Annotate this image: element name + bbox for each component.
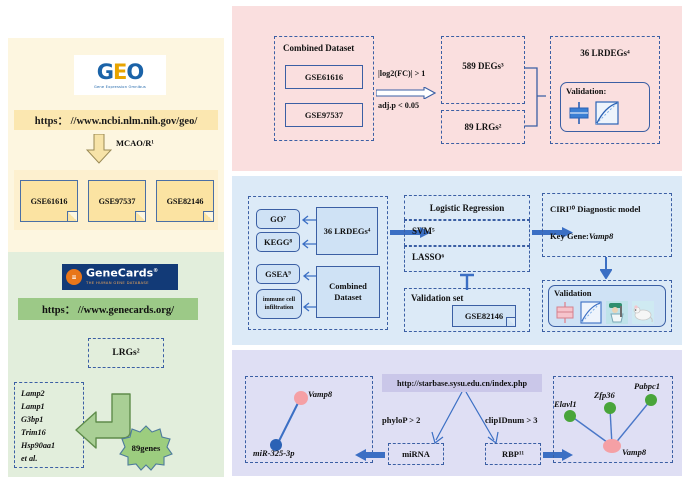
degs-box: 589 DEGs³ bbox=[441, 36, 525, 104]
logistic-regression-box: Logistic Regression bbox=[404, 195, 530, 220]
gsea-arrow-icon bbox=[302, 268, 317, 286]
pink-validation-label: Validation: bbox=[566, 86, 606, 96]
immune-arrow-icon bbox=[302, 299, 317, 317]
mcao-arrow-icon bbox=[86, 134, 112, 164]
immune-infiltration-box[interactable]: immune cell infiltration bbox=[256, 289, 302, 319]
kegg-arrow-icon bbox=[300, 236, 317, 254]
lrdegs-analysis-box: 36 LRDEGs⁴ bbox=[316, 207, 378, 255]
dataset-note-gse97537[interactable]: GSE97537 bbox=[88, 180, 146, 222]
lrdegs-label: 36 LRDEGs⁴ bbox=[550, 48, 660, 58]
key-gene-line: Key Gene:Vamp8 bbox=[550, 231, 613, 241]
page-fold-icon bbox=[203, 211, 213, 221]
mouse-icon bbox=[632, 301, 654, 329]
dataset-note-gse61616[interactable]: GSE61616 bbox=[20, 180, 78, 222]
clipidnum-filter-label: clipIDnum > 3 bbox=[485, 415, 538, 425]
adjp-filter-label: adj.p < 0.05 bbox=[378, 101, 419, 110]
dataset-label: GSE97537 bbox=[99, 197, 136, 206]
gene-count-badge: 89genes bbox=[118, 425, 174, 471]
dataset-note-gse82146[interactable]: GSE82146 bbox=[156, 180, 214, 222]
phylop-filter-label: phyloP > 2 bbox=[382, 415, 420, 425]
pink-dataset-gse61616[interactable]: GSE61616 bbox=[285, 65, 363, 89]
ciri-model-title: CIRI¹⁰ Diagnostic model bbox=[550, 204, 641, 215]
lasso-label: LASSO⁶ bbox=[412, 252, 444, 262]
mcao-label: MCAO/R¹ bbox=[116, 138, 154, 148]
rbp-box: RBP¹¹ bbox=[485, 443, 541, 465]
gsea-box[interactable]: GSEA⁹ bbox=[256, 264, 300, 284]
genecards-logo-tagline: THE HUMAN GENE DATABASE bbox=[86, 278, 158, 287]
geo-logo: GEO Gene Expression Omnibus bbox=[74, 55, 166, 95]
dataset-label: GSE82146 bbox=[465, 311, 503, 321]
rbp-hub-vamp8-label: Vamp8 bbox=[622, 447, 646, 457]
dataset-label: GSE61616 bbox=[31, 197, 68, 206]
gene-count-label: 89genes bbox=[118, 425, 174, 471]
lrgs-box: LRGs² bbox=[88, 338, 164, 368]
go-arrow-icon bbox=[300, 212, 317, 230]
combined-dataset-analysis-box: Combined Dataset bbox=[316, 266, 380, 318]
genecards-mark-icon: ≡ bbox=[66, 269, 82, 285]
blue-validation-label: Validation bbox=[554, 288, 591, 298]
mirna-box: miRNA bbox=[388, 443, 444, 465]
mirna-network-mirna-label: miR-325-3p bbox=[253, 448, 295, 458]
validation-dataset-note[interactable]: GSE82146 bbox=[452, 305, 516, 327]
genecards-logo-text: GeneCards® bbox=[86, 267, 158, 278]
genecards-logo: ≡ GeneCards® THE HUMAN GENE DATABASE bbox=[62, 264, 178, 290]
boxplot-icon bbox=[555, 301, 575, 329]
page-fold-icon bbox=[135, 211, 145, 221]
rbp-node-elavl1-label: Elavl1 bbox=[554, 399, 577, 409]
page-fold-icon bbox=[506, 317, 515, 326]
lrgs-count-box: 89 LRGs² bbox=[441, 110, 525, 144]
rbp-node-pabpc1-label: Pabpc1 bbox=[634, 381, 660, 391]
dataset-label: GSE82146 bbox=[167, 197, 204, 206]
geo-logo-subtitle: Gene Expression Omnibus bbox=[94, 85, 146, 89]
roc-curve-icon bbox=[580, 301, 602, 329]
kegg-box[interactable]: KEGG⁸ bbox=[256, 232, 300, 252]
roc-curve-icon bbox=[595, 101, 619, 130]
genecards-url[interactable]: https： //www.genecards.org/ bbox=[18, 298, 198, 320]
geo-logo-text: GEO bbox=[97, 62, 143, 83]
boxplot-icon bbox=[568, 101, 590, 130]
mirna-network-target-label: Vamp8 bbox=[308, 389, 332, 399]
mirna-to-network-arrow-icon bbox=[355, 448, 385, 466]
diagnostic-model-box bbox=[542, 193, 672, 257]
experiment-icon bbox=[606, 301, 628, 329]
rbp-node-zfp36-label: Zfp36 bbox=[594, 390, 615, 400]
logfc-filter-label: |log2(FC)| > 1 bbox=[378, 69, 425, 78]
go-box[interactable]: GO⁷ bbox=[256, 209, 300, 229]
workflow-diagram: GEO Gene Expression Omnibus https： //www… bbox=[0, 0, 685, 481]
validation-set-title: Validation set bbox=[411, 293, 463, 303]
geo-url[interactable]: https： //www.ncbi.nlm.nih.gov/geo/ bbox=[14, 110, 218, 130]
combined-dataset-title: Combined Dataset bbox=[283, 43, 354, 53]
starbase-url[interactable]: http://starbase.sysu.edu.cn/index.php bbox=[382, 374, 542, 392]
svm-label: SVM⁵ bbox=[412, 226, 435, 236]
merge-connector-icon bbox=[525, 66, 547, 133]
page-fold-icon bbox=[67, 211, 77, 221]
pink-dataset-gse97537[interactable]: GSE97537 bbox=[285, 103, 363, 127]
geo-dataset-group: GSE61616 GSE97537 GSE82146 bbox=[14, 170, 218, 230]
